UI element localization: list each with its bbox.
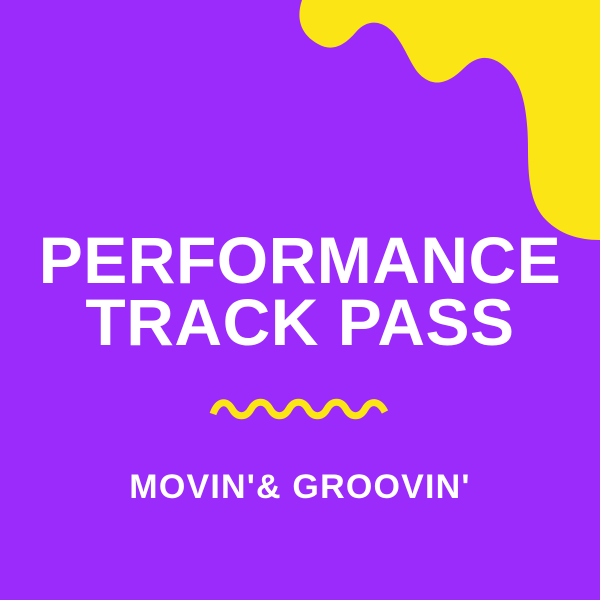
title-line-1: PERFORMANCE	[0, 229, 600, 291]
poster-canvas: PERFORMANCE TRACK PASS MOVIN'& GROOVIN'	[0, 0, 600, 600]
wavy-divider	[0, 392, 600, 426]
page-title: PERFORMANCE TRACK PASS	[0, 229, 600, 353]
wavy-divider-icon	[209, 392, 391, 426]
subtitle-text: MOVIN'& GROOVIN'	[129, 468, 470, 506]
title-line-2: TRACK PASS	[0, 291, 600, 353]
subtitle: MOVIN'& GROOVIN'	[0, 468, 600, 506]
poster-content: PERFORMANCE TRACK PASS MOVIN'& GROOVIN'	[0, 0, 600, 600]
